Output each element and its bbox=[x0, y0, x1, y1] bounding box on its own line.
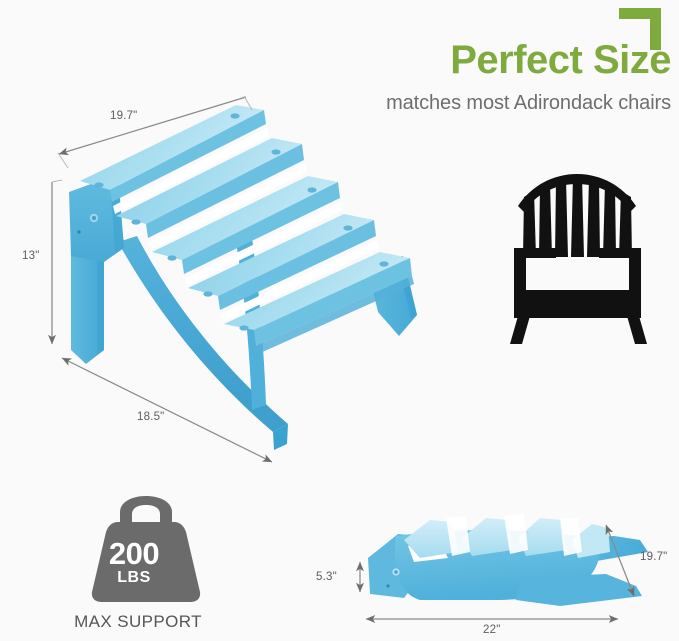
max-support-caption: MAX SUPPORT bbox=[38, 612, 238, 632]
weight-value: 200 bbox=[88, 538, 180, 569]
weight-badge: 200 LBS bbox=[88, 512, 180, 604]
infographic-canvas: Perfect Size matches most Adirondack cha… bbox=[0, 0, 679, 641]
dimension-label-folded-depth: 19.7" bbox=[640, 551, 667, 563]
headline-block: Perfect Size matches most Adirondack cha… bbox=[191, 38, 671, 115]
ottoman-3d-icon bbox=[69, 105, 417, 450]
main-dimension-lines bbox=[52, 96, 272, 462]
dimension-label-width-top: 19.7" bbox=[110, 110, 137, 122]
ottoman-folded-icon bbox=[368, 514, 648, 606]
page-title: Perfect Size bbox=[191, 38, 671, 82]
adirondack-chair-icon bbox=[510, 174, 647, 344]
folded-dimension-lines bbox=[360, 525, 634, 619]
weight-unit: LBS bbox=[88, 570, 180, 586]
dimension-label-depth-bottom: 18.5" bbox=[137, 411, 164, 423]
dimension-label-folded-height: 5.3" bbox=[316, 571, 337, 583]
dimension-label-height-left: 13" bbox=[22, 250, 39, 262]
page-subtitle: matches most Adirondack chairs bbox=[191, 92, 671, 115]
dimension-label-folded-width: 22" bbox=[483, 624, 500, 636]
